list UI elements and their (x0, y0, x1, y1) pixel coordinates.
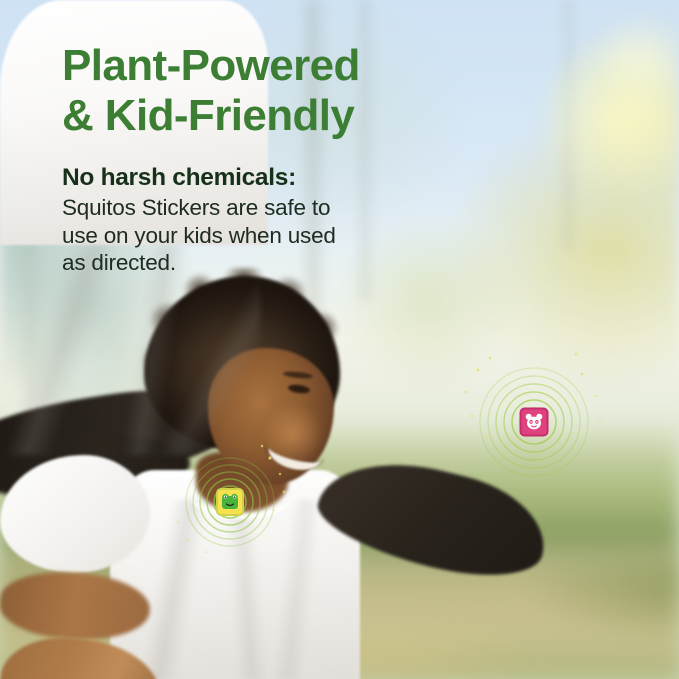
pink-panda-sticker[interactable] (520, 408, 549, 437)
green-sticker-ring-group (184, 456, 276, 548)
headline-line-2: & Kid-Friendly (62, 91, 492, 141)
headline: Plant-Powered & Kid-Friendly (62, 41, 492, 141)
banner-canvas: Plant-Powered & Kid-Friendly No harsh ch… (0, 0, 679, 679)
subheading-body-line-1: Squitos Stickers are safe to (62, 194, 422, 221)
subheading-body-line-2: use on your kids when used (62, 222, 422, 249)
subheading-body: Squitos Stickers are safe to use on your… (62, 194, 422, 276)
headline-line-1: Plant-Powered (62, 41, 360, 90)
subheading-block: No harsh chemicals: Squitos Stickers are… (62, 163, 422, 277)
panda-face-icon (525, 413, 544, 432)
frog-face-icon (221, 493, 239, 511)
subheading-body-line-3: as directed. (62, 249, 422, 276)
subheading-title: No harsh chemicals: (62, 163, 422, 192)
pink-sticker-ring-group (478, 366, 590, 478)
green-frog-sticker[interactable] (216, 488, 244, 516)
